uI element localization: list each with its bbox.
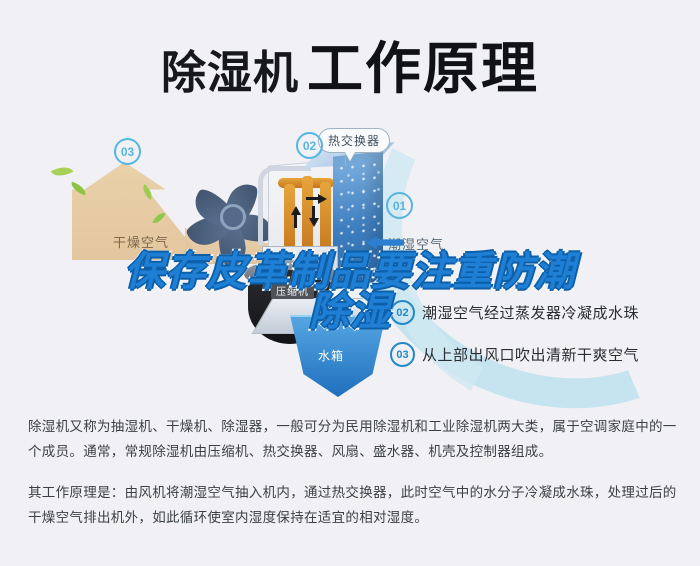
body-copy: 除湿机又称为抽湿机、干燥机、除湿器，一般可分为民用除湿机和工业除湿机两大类，属于… bbox=[28, 414, 680, 530]
step-badge-icon: 02 bbox=[390, 300, 415, 325]
list-item: 03 从上部出风口吹出清新干爽空气 bbox=[390, 342, 690, 367]
heat-exchanger-callout: 热交换器 bbox=[318, 128, 390, 153]
list-item: 02 潮湿空气经过蒸发器冷凝成水珠 bbox=[390, 300, 690, 325]
step-text: 从上部出风口吹出清新干爽空气 bbox=[422, 344, 639, 365]
infographic-page: 除湿机工作原理 干燥空气 潮湿空气 bbox=[0, 0, 700, 566]
step-text: 潮湿空气经过蒸发器冷凝成水珠 bbox=[422, 302, 639, 323]
leaf-icon bbox=[51, 162, 74, 181]
condensation-droplets-icon bbox=[336, 158, 380, 281]
paragraph-1: 除湿机又称为抽湿机、干燥机、除湿器，一般可分为民用除湿机和工业除湿机两大类，属于… bbox=[28, 414, 680, 464]
diagram-badge-03: 03 bbox=[114, 138, 141, 165]
flow-arrow-right-icon bbox=[318, 194, 327, 204]
step-badge-icon: 03 bbox=[390, 342, 415, 367]
flow-arrow-stem bbox=[306, 197, 319, 200]
flow-arrow-stem bbox=[312, 206, 315, 220]
diagram-badge-02: 02 bbox=[296, 132, 323, 159]
water-tank-label: 水箱 bbox=[318, 347, 344, 364]
page-title-part1: 除湿机 bbox=[161, 47, 299, 98]
step-list: 02 潮湿空气经过蒸发器冷凝成水珠 03 从上部出风口吹出清新干爽空气 bbox=[390, 300, 690, 384]
dry-air-label: 干燥空气 bbox=[113, 232, 169, 251]
diagram-badge-01: 01 bbox=[386, 192, 413, 219]
compressor-label: 压缩机 bbox=[271, 282, 314, 299]
flow-arrow-stem bbox=[294, 214, 297, 228]
paragraph-2: 其工作原理是：由风机将潮湿空气抽入机内，通过热交换器，此时空气中的水分子冷凝成水… bbox=[28, 480, 680, 530]
